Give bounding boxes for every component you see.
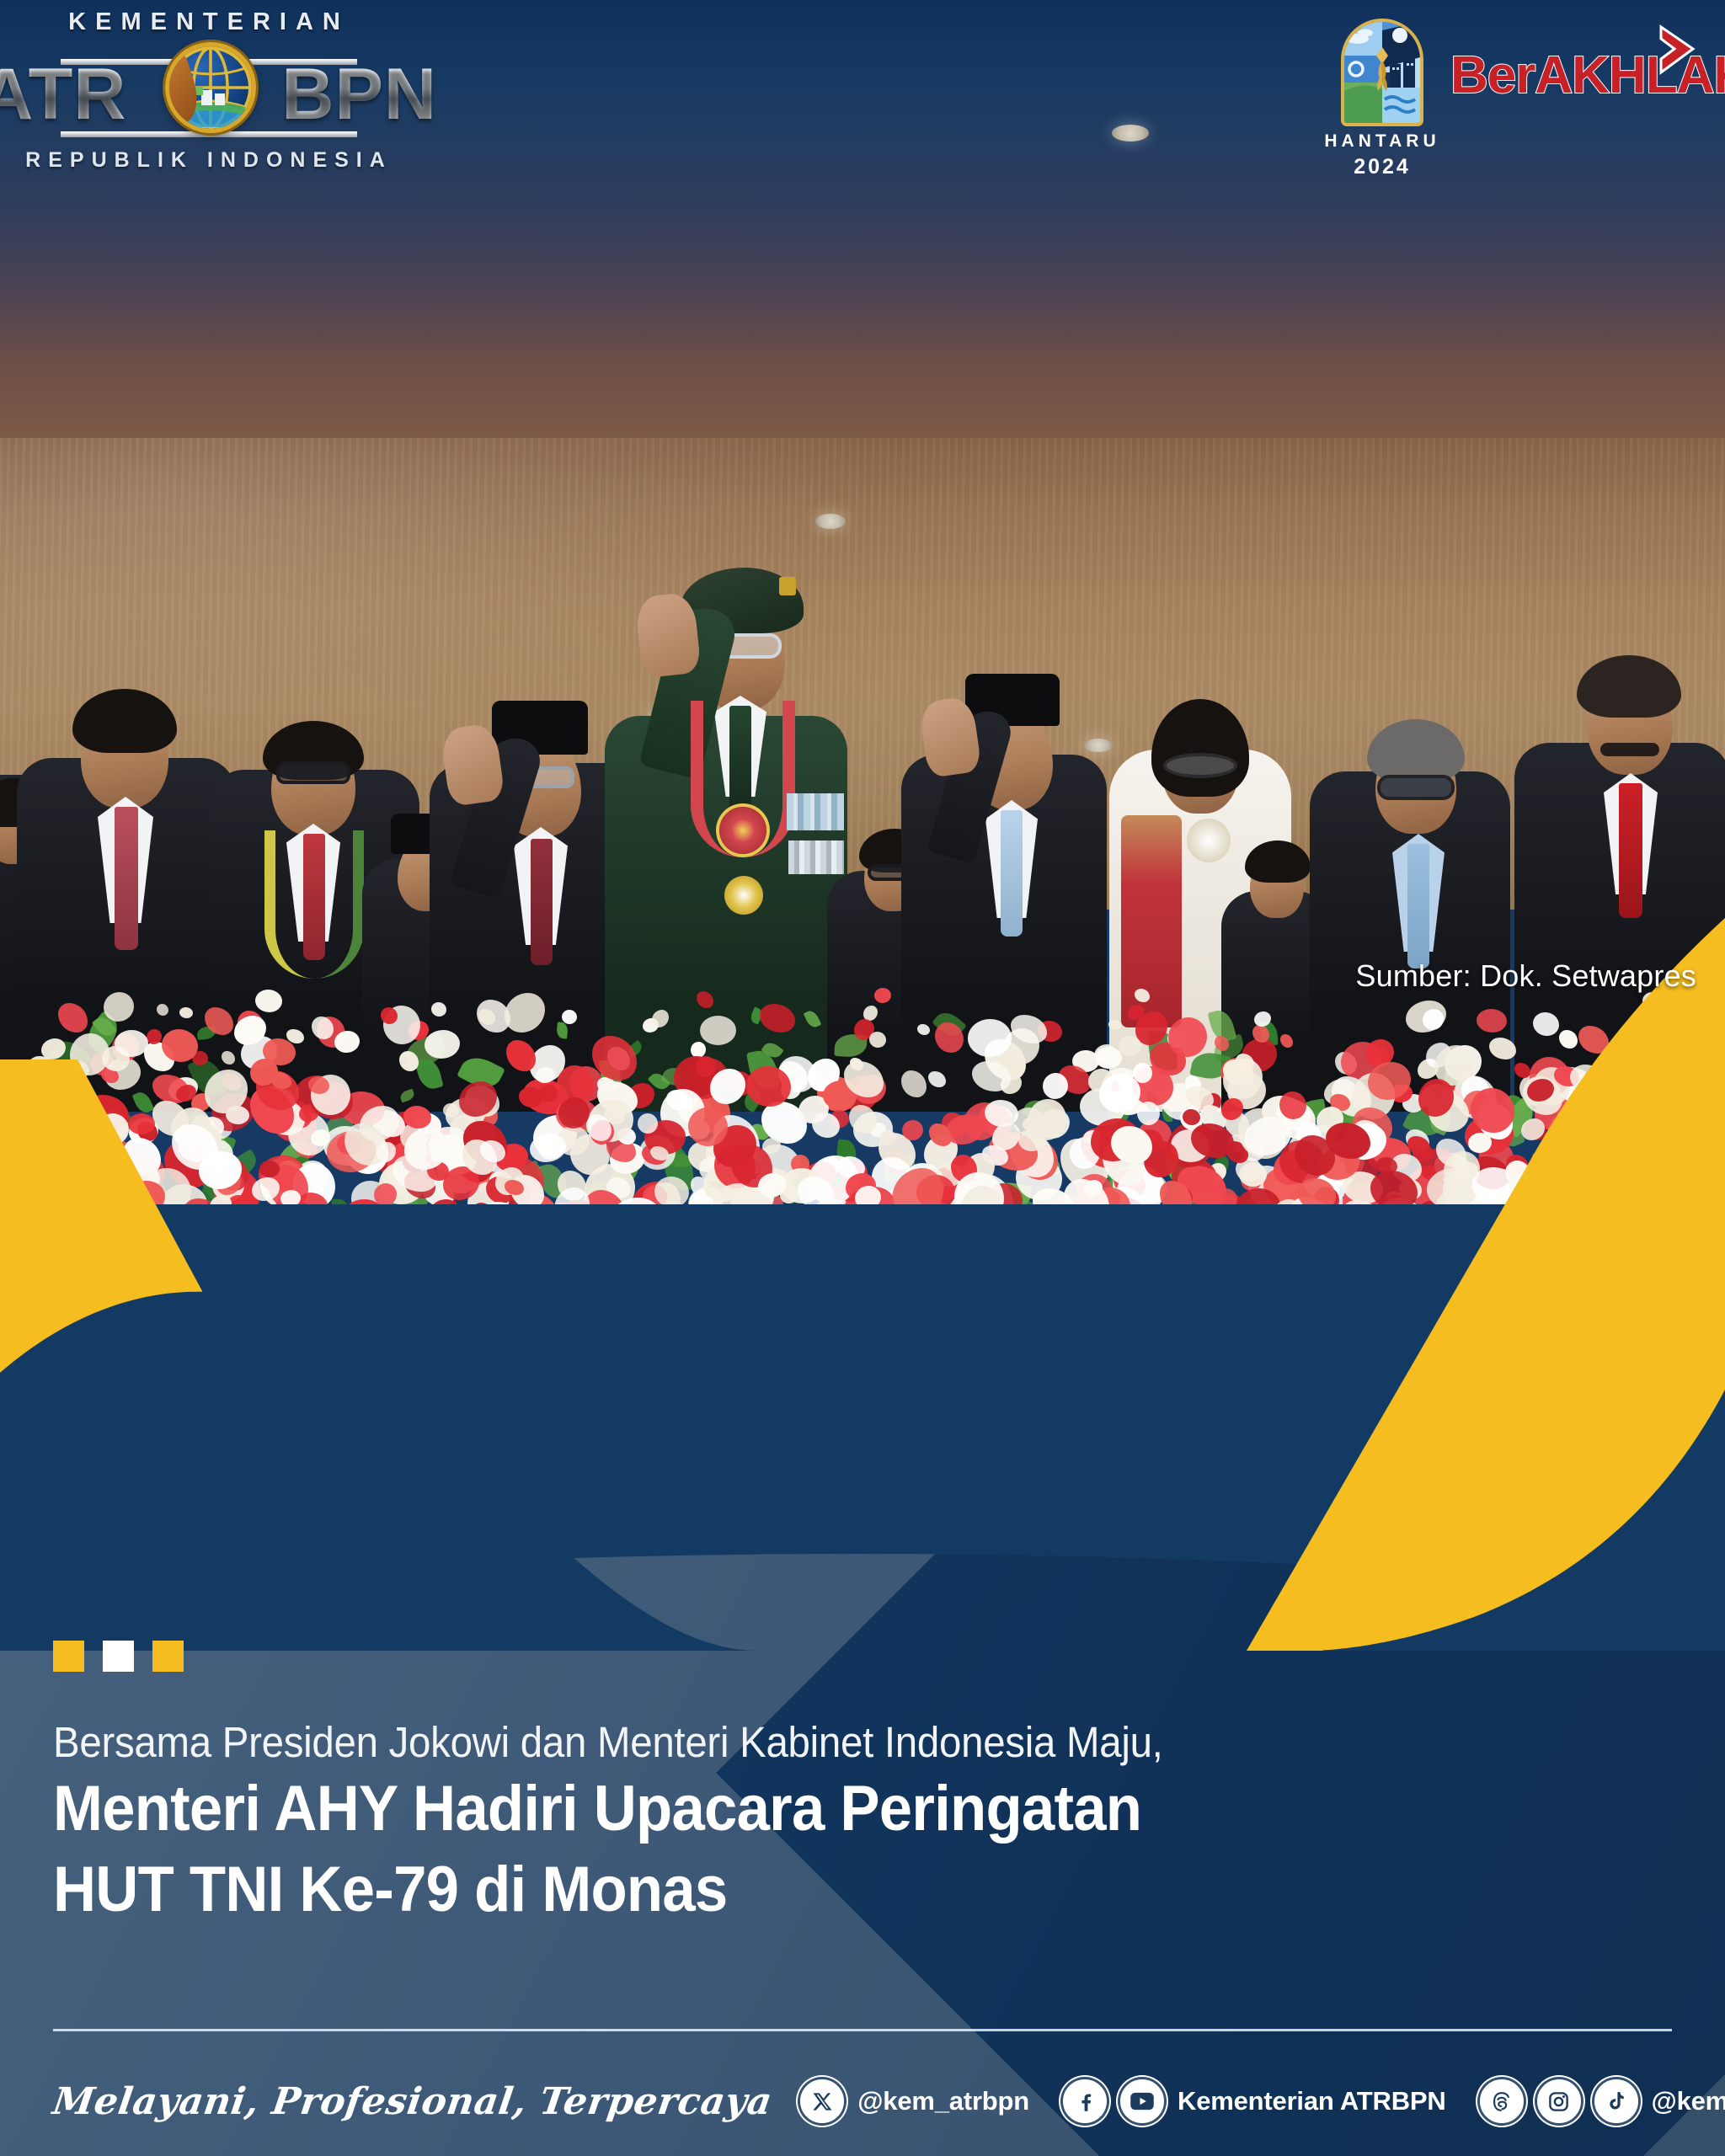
threads-icon[interactable] bbox=[1480, 2079, 1524, 2123]
accent-squares bbox=[53, 1641, 184, 1672]
x-twitter-icon[interactable] bbox=[800, 2079, 844, 2123]
x-handle[interactable]: @kem_atrbpn bbox=[857, 2086, 1029, 2116]
atr-word: ATR bbox=[0, 53, 126, 136]
facebook-youtube-handle[interactable]: Kementerian ATRBPN bbox=[1178, 2086, 1446, 2116]
headline-title-line2: HUT TNI Ke-79 di Monas bbox=[53, 1852, 1541, 1928]
footer-tagline: Melayani, Profesional, Terpercaya bbox=[50, 2080, 774, 2123]
bpn-word: BPN bbox=[281, 53, 437, 136]
footer-divider bbox=[53, 2029, 1672, 2031]
moustache bbox=[1600, 743, 1659, 756]
hantaru-emblem-icon bbox=[1341, 19, 1423, 126]
sunglasses-icon bbox=[1377, 775, 1455, 800]
berakhlak-logo: BerAKHLAK bbox=[1450, 25, 1703, 118]
ceiling-lamp-icon bbox=[1112, 125, 1149, 141]
hantaru-year: 2024 bbox=[1317, 155, 1447, 179]
headline-title-line1: Menteri AHY Hadiri Upacara Peringatan bbox=[53, 1771, 1541, 1847]
medal-star-icon bbox=[724, 876, 763, 915]
accent-square-3 bbox=[152, 1641, 184, 1672]
hantaru-label: HANTARU bbox=[1317, 131, 1447, 152]
atr-bpn-kementerian-text: KEMENTERIAN bbox=[15, 8, 403, 36]
atr-bpn-republik-text: REPUBLIK INDONESIA bbox=[15, 148, 403, 173]
photo-credit: Sumber: Dok. Setwapres bbox=[1355, 958, 1696, 994]
atr-bpn-logo: KEMENTERIAN ATR BPN REPUBLIK INDON bbox=[15, 5, 403, 189]
yellow-arc-right bbox=[884, 918, 1725, 1651]
tiktok-icon[interactable] bbox=[1594, 2079, 1638, 2123]
medal-star-icon bbox=[719, 807, 766, 854]
poster-canvas: Sumber: Dok. Setwapres Bersama Presiden … bbox=[0, 0, 1725, 2156]
ceiling-lamp-icon bbox=[815, 514, 846, 529]
instagram-icon[interactable] bbox=[1537, 2079, 1581, 2123]
accent-square-1 bbox=[53, 1641, 84, 1672]
eyeglasses-icon bbox=[1163, 753, 1237, 778]
sunglasses-icon bbox=[276, 761, 350, 784]
accent-square-2 bbox=[103, 1641, 134, 1672]
headline-kicker: Bersama Presiden Jokowi dan Menteri Kabi… bbox=[53, 1718, 1541, 1766]
facebook-icon[interactable] bbox=[1063, 2079, 1107, 2123]
berakhlak-arrow-icon bbox=[1649, 22, 1710, 83]
footer-bar: Melayani, Profesional, Terpercaya @kem_a… bbox=[53, 2055, 1687, 2148]
hantaru-logo: HANTARU 2024 bbox=[1329, 19, 1435, 179]
social-group-threads-instagram-tiktok: @kementerian.atrbpn bbox=[1480, 2079, 1725, 2123]
social-group-x: @kem_atrbpn bbox=[800, 2079, 1029, 2123]
youtube-icon[interactable] bbox=[1120, 2079, 1164, 2123]
headline-block: Bersama Presiden Jokowi dan Menteri Kabi… bbox=[53, 1718, 1653, 1927]
globe-icon bbox=[165, 42, 256, 133]
social-group-facebook-youtube: Kementerian ATRBPN bbox=[1063, 2079, 1446, 2123]
instagram-handle[interactable]: @kementerian.atrbpn bbox=[1652, 2086, 1725, 2116]
